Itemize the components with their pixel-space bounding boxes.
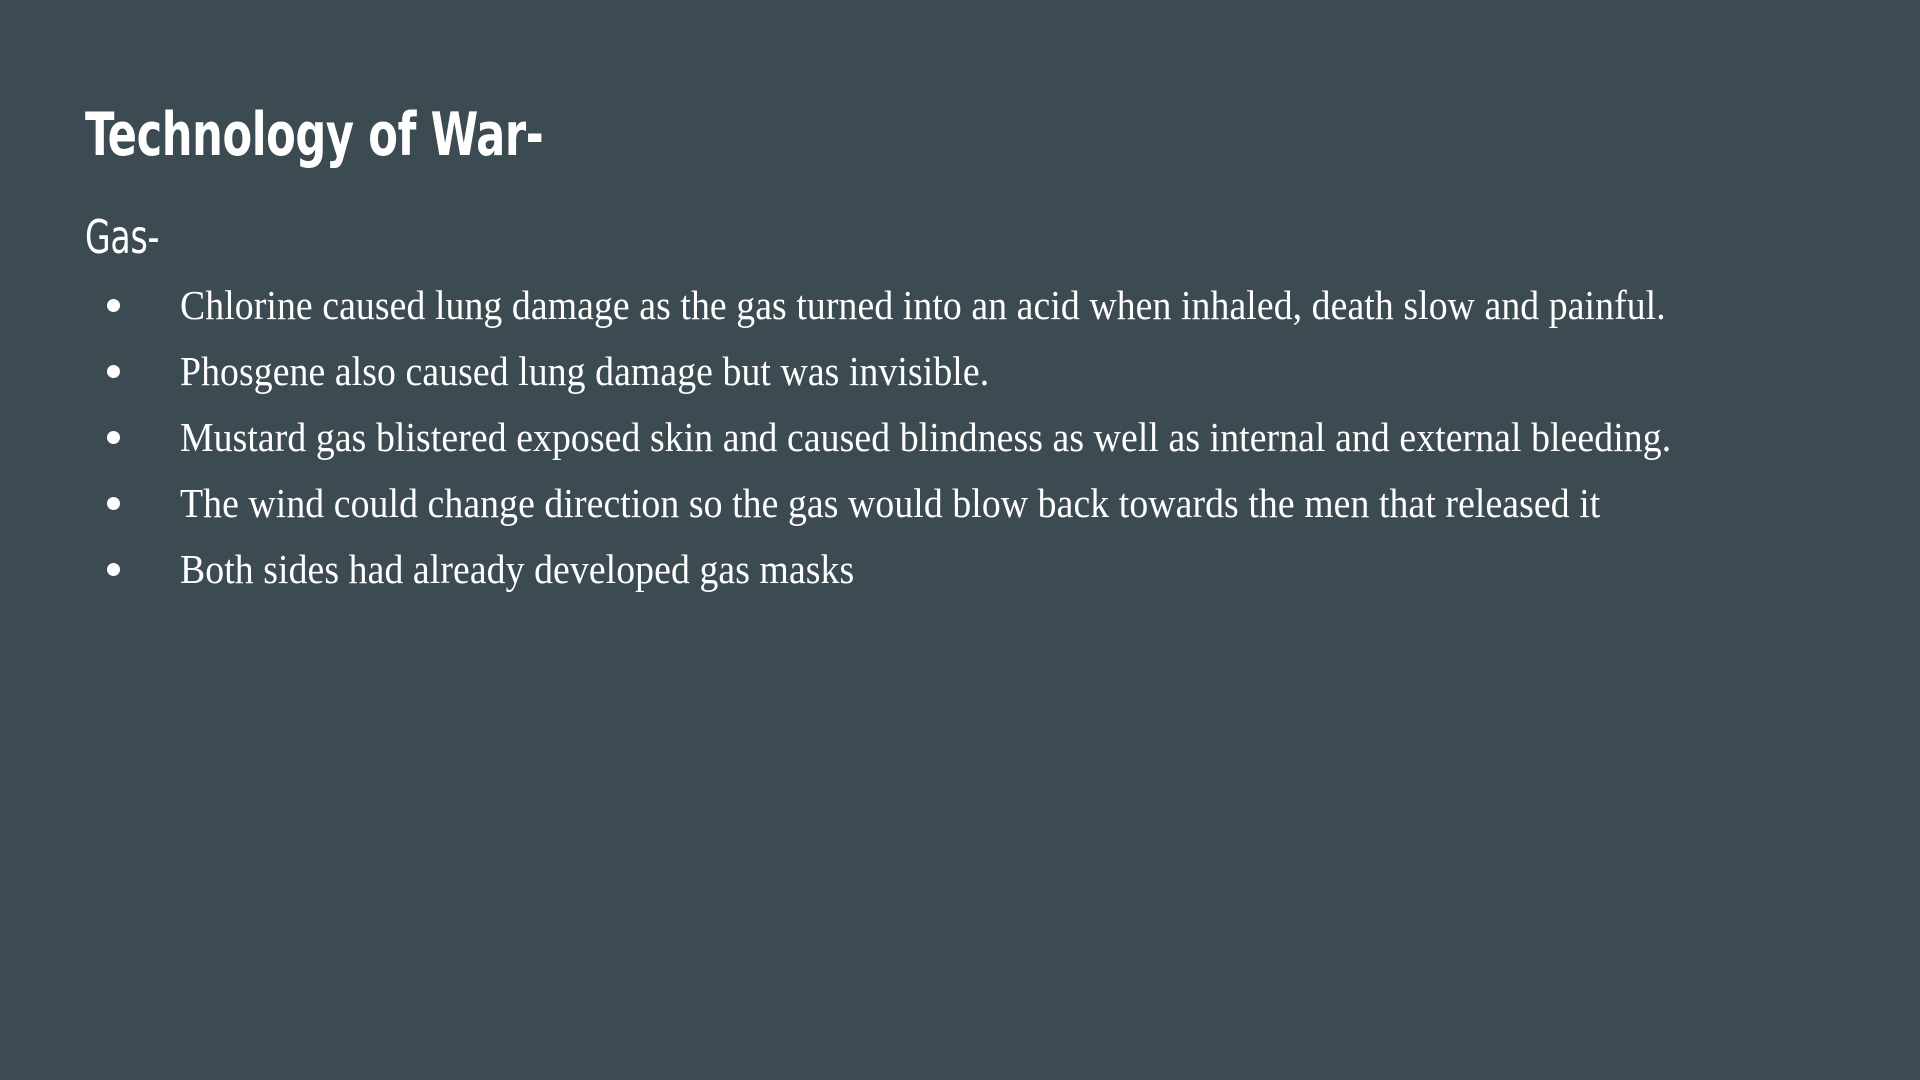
bullet-dot-icon xyxy=(107,299,120,312)
list-item-text: Phosgene also caused lung damage but was… xyxy=(180,338,1820,404)
slide-canvas: Technology of War- Gas- Chlorine caused … xyxy=(0,0,1920,1080)
section-subheading: Gas- xyxy=(85,212,1493,264)
bullet-dot-icon xyxy=(107,563,120,576)
list-item: Chlorine caused lung damage as the gas t… xyxy=(85,272,1820,338)
list-item-text: Chlorine caused lung damage as the gas t… xyxy=(180,272,1820,338)
list-item-text: The wind could change direction so the g… xyxy=(180,470,1820,536)
bullet-list: Chlorine caused lung damage as the gas t… xyxy=(85,272,1845,602)
list-item: Mustard gas blistered exposed skin and c… xyxy=(85,404,1820,470)
list-item-text: Both sides had already developed gas mas… xyxy=(180,536,1820,602)
slide-body: Gas- Chlorine caused lung damage as the … xyxy=(85,212,1845,602)
bullet-dot-icon xyxy=(107,431,120,444)
bullet-dot-icon xyxy=(107,497,120,510)
page-title: Technology of War- xyxy=(85,104,1445,167)
list-item: The wind could change direction so the g… xyxy=(85,470,1820,536)
list-item: Phosgene also caused lung damage but was… xyxy=(85,338,1820,404)
bullet-dot-icon xyxy=(107,365,120,378)
list-item: Both sides had already developed gas mas… xyxy=(85,536,1820,602)
list-item-text: Mustard gas blistered exposed skin and c… xyxy=(180,404,1820,470)
